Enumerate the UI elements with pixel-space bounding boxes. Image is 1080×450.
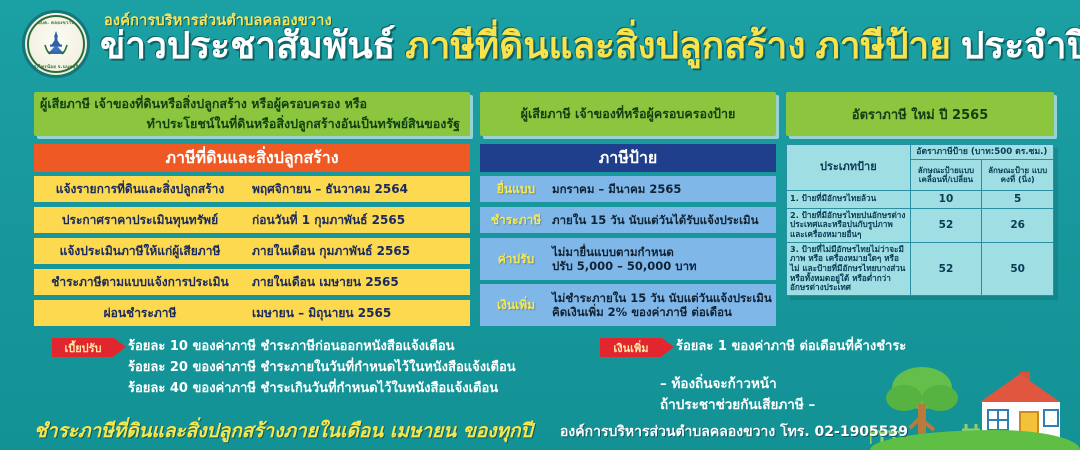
land-tax-item: แจ้งประเมินภาษีให้แก่ผู้เสียภาษี — [34, 242, 252, 261]
sign-tax-value: มกราคม – มีนาคม 2565 — [552, 182, 776, 196]
rate-moving-value: 52 — [910, 242, 982, 295]
taxpayer-sign-banner: ผู้เสียภาษี เจ้าของที่หรือผู้ครอบครองป้า… — [480, 92, 776, 136]
land-tax-item: ประกาศราคาประเมินทุนทรัพย์ — [34, 211, 252, 230]
rate-category: 2. ป้ายที่มีอักษรไทยปนอักษรต่างประเทศและ… — [787, 208, 911, 242]
rate-fixed-value: 50 — [982, 242, 1054, 295]
land-tax-row: แจ้งรายการที่ดินและสิ่งปลูกสร้าง พฤศจิกา… — [34, 176, 470, 202]
sign-tax-key: ค่าปรับ — [480, 250, 552, 269]
sign-tax-value-line1: ไม่ชำระภายใน 15 วัน นับแต่วันแจ้งประเมิน — [552, 291, 772, 305]
taxpayer-land-line1: ผู้เสียภาษี เจ้าของที่ดินหรือสิ่งปลูกสร้… — [40, 94, 460, 114]
sign-tax-row: ชำระภาษี ภายใน 15 วัน นับแต่วันได้รับแจ้… — [480, 207, 776, 233]
land-tax-section-title: ภาษีที่ดินและสิ่งปลูกสร้าง — [34, 144, 470, 172]
rate-table-header-fixed: ลักษณะป้าย แบบคงที่ (นิ่ง) — [982, 160, 1054, 191]
land-tax-row: แจ้งประเมินภาษีให้แก่ผู้เสียภาษี ภายในเด… — [34, 238, 470, 264]
sign-tax-value-line2: ปรับ 5,000 – 50,000 บาท — [552, 259, 697, 273]
poster-headline: ข่าวประชาสัมพันธ์ภาษีที่ดินและสิ่งปลูกสร… — [100, 24, 1080, 65]
logo-top-label: อบต. คลองขวาง — [29, 19, 83, 26]
land-tax-period: เมษายน – มิถุนายน 2565 — [252, 304, 470, 323]
fine-line: ร้อยละ 20 ของค่าภาษี ชำระภายในวันที่กำหน… — [128, 357, 516, 378]
sign-tax-value: ไม่มายื่นแบบตามกำหนด ปรับ 5,000 – 50,000… — [552, 245, 776, 274]
land-tax-item: ชำระภาษีตามแบบแจ้งการประเมิน — [34, 273, 252, 292]
slogan-line-1: – ท้องถิ่นจะก้าวหน้า — [660, 374, 815, 395]
taxpayer-land-banner: ผู้เสียภาษี เจ้าของที่ดินหรือสิ่งปลูกสร้… — [34, 92, 470, 136]
slogan-line-2: ถ้าประชาช่วยกันเสียภาษี – — [660, 395, 815, 416]
rate-table-row: 3. ป้ายที่ไม่มีอักษรไทยไม่ว่าจะมีภาพ หรื… — [787, 242, 1054, 295]
poster-root: อบต. คลองขวาง อ.ไทรน้อย จ.นนทบุรี องค์กา… — [0, 0, 1080, 450]
sign-tax-row: ค่าปรับ ไม่มายื่นแบบตามกำหนด ปรับ 5,000 … — [480, 238, 776, 280]
surcharge-line: ร้อยละ 1 ของค่าภาษี ต่อเดือนที่ค้างชำระ — [676, 336, 906, 357]
rate-moving-value: 10 — [910, 191, 982, 208]
land-tax-row: ผ่อนชำระภาษี เมษายน – มิถุนายน 2565 — [34, 300, 470, 326]
land-tax-item: ผ่อนชำระภาษี — [34, 304, 252, 323]
sign-tax-value: ภายใน 15 วัน นับแต่วันได้รับแจ้งประเมิน — [552, 213, 776, 227]
logo-bottom-label: อ.ไทรน้อย จ.นนทบุรี — [29, 63, 83, 70]
surcharge-lines: ร้อยละ 1 ของค่าภาษี ต่อเดือนที่ค้างชำระ — [676, 336, 906, 357]
land-tax-row: ประกาศราคาประเมินทุนทรัพย์ ก่อนวันที่ 1 … — [34, 207, 470, 233]
rate-table-header-rate: อัตราภาษีป้าย (บาท:500 ตร.ซม.) — [910, 145, 1053, 160]
pagoda-icon — [41, 29, 71, 59]
municipality-logo: อบต. คลองขวาง อ.ไทรน้อย จ.นนทบุรี — [22, 10, 90, 78]
fine-tag: เบี้ยปรับ — [52, 338, 114, 357]
sign-tax-value-line2: คิดเงินเพิ่ม 2% ของค่าภาษี ต่อเดือน — [552, 305, 732, 319]
rate-category: 1. ป้ายที่มีอักษรไทยล้วน — [787, 191, 911, 208]
sign-tax-key: ยื่นแบบ — [480, 180, 552, 199]
signboard-rate-table: ประเภทป้าย อัตราภาษีป้าย (บาท:500 ตร.ซม.… — [786, 144, 1054, 296]
logo-ring: อบต. คลองขวาง อ.ไทรน้อย จ.นนทบุรี — [27, 15, 85, 73]
sign-tax-row: เงินเพิ่ม ไม่ชำระภายใน 15 วัน นับแต่วันแ… — [480, 284, 776, 326]
sign-tax-key: ชำระภาษี — [480, 211, 552, 230]
headline-news-label: ข่าวประชาสัมพันธ์ — [100, 24, 395, 67]
footer-organization-phone: องค์การบริหารส่วนตำบลคลองขวาง โทร. 02-19… — [560, 421, 908, 443]
poster-header: อบต. คลองขวาง อ.ไทรน้อย จ.นนทบุรี องค์กา… — [0, 0, 1080, 86]
land-tax-period: ภายในเดือน กุมภาพันธ์ 2565 — [252, 242, 470, 261]
sign-tax-key: เงินเพิ่ม — [480, 296, 552, 315]
land-tax-row: ชำระภาษีตามแบบแจ้งการประเมิน ภายในเดือน … — [34, 269, 470, 295]
rate-category: 3. ป้ายที่ไม่มีอักษรไทยไม่ว่าจะมีภาพ หรื… — [787, 242, 911, 295]
rate-fixed-value: 5 — [982, 191, 1054, 208]
new-rate-banner: อัตราภาษี ใหม่ ปี 2565 — [786, 92, 1054, 136]
land-tax-period: พฤศจิกายน – ธันวาคม 2564 — [252, 180, 470, 199]
sign-tax-value: ไม่ชำระภายใน 15 วัน นับแต่วันแจ้งประเมิน… — [552, 291, 776, 320]
sign-tax-value-line1: ไม่มายื่นแบบตามกำหนด — [552, 245, 674, 259]
rate-table-header-type: ประเภทป้าย — [787, 145, 911, 191]
fine-lines: ร้อยละ 10 ของค่าภาษี ชำระภาษีก่อนออกหนัง… — [128, 336, 516, 399]
land-tax-period: ภายในเดือน เมษายน 2565 — [252, 273, 470, 292]
rate-table-header-moving: ลักษณะป้ายแบบ เคลื่อนที่/เปลี่ยน — [910, 160, 982, 191]
rate-fixed-value: 26 — [982, 208, 1054, 242]
land-tax-period: ก่อนวันที่ 1 กุมภาพันธ์ 2565 — [252, 211, 470, 230]
house-roof — [980, 374, 1060, 402]
headline-yearly-label: ประจำปี — [961, 24, 1080, 67]
fine-line: ร้อยละ 40 ของค่าภาษี ชำระเกินวันที่กำหนด… — [128, 378, 516, 399]
land-tax-item: แจ้งรายการที่ดินและสิ่งปลูกสร้าง — [34, 180, 252, 199]
headline-sign-tax-label: ภาษีป้าย — [815, 24, 951, 67]
rate-table-row: 2. ป้ายที่มีอักษรไทยปนอักษรต่างประเทศและ… — [787, 208, 1054, 242]
rate-table-header-row: ประเภทป้าย อัตราภาษีป้าย (บาท:500 ตร.ซม.… — [787, 145, 1054, 160]
surcharge-tag: เงินเพิ่ม — [600, 338, 662, 357]
rate-moving-value: 52 — [910, 208, 982, 242]
sign-tax-section-title: ภาษีป้าย — [480, 144, 776, 172]
house-window-right — [1044, 410, 1058, 426]
sign-tax-row: ยื่นแบบ มกราคม – มีนาคม 2565 — [480, 176, 776, 202]
taxpayer-land-line2: ทำประโยชน์ในที่ดินหรือสิ่งปลูกสร้างอันเป… — [40, 114, 460, 134]
footer-main-message: ชำระภาษีที่ดินและสิ่งปลูกสร้างภายในเดือน… — [34, 416, 533, 446]
fine-line: ร้อยละ 10 ของค่าภาษี ชำระภาษีก่อนออกหนัง… — [128, 336, 516, 357]
rate-table-row: 1. ป้ายที่มีอักษรไทยล้วน 10 5 — [787, 191, 1054, 208]
slogan-text: – ท้องถิ่นจะก้าวหน้า ถ้าประชาช่วยกันเสีย… — [660, 374, 815, 416]
headline-land-tax-label: ภาษีที่ดินและสิ่งปลูกสร้าง — [405, 24, 805, 67]
